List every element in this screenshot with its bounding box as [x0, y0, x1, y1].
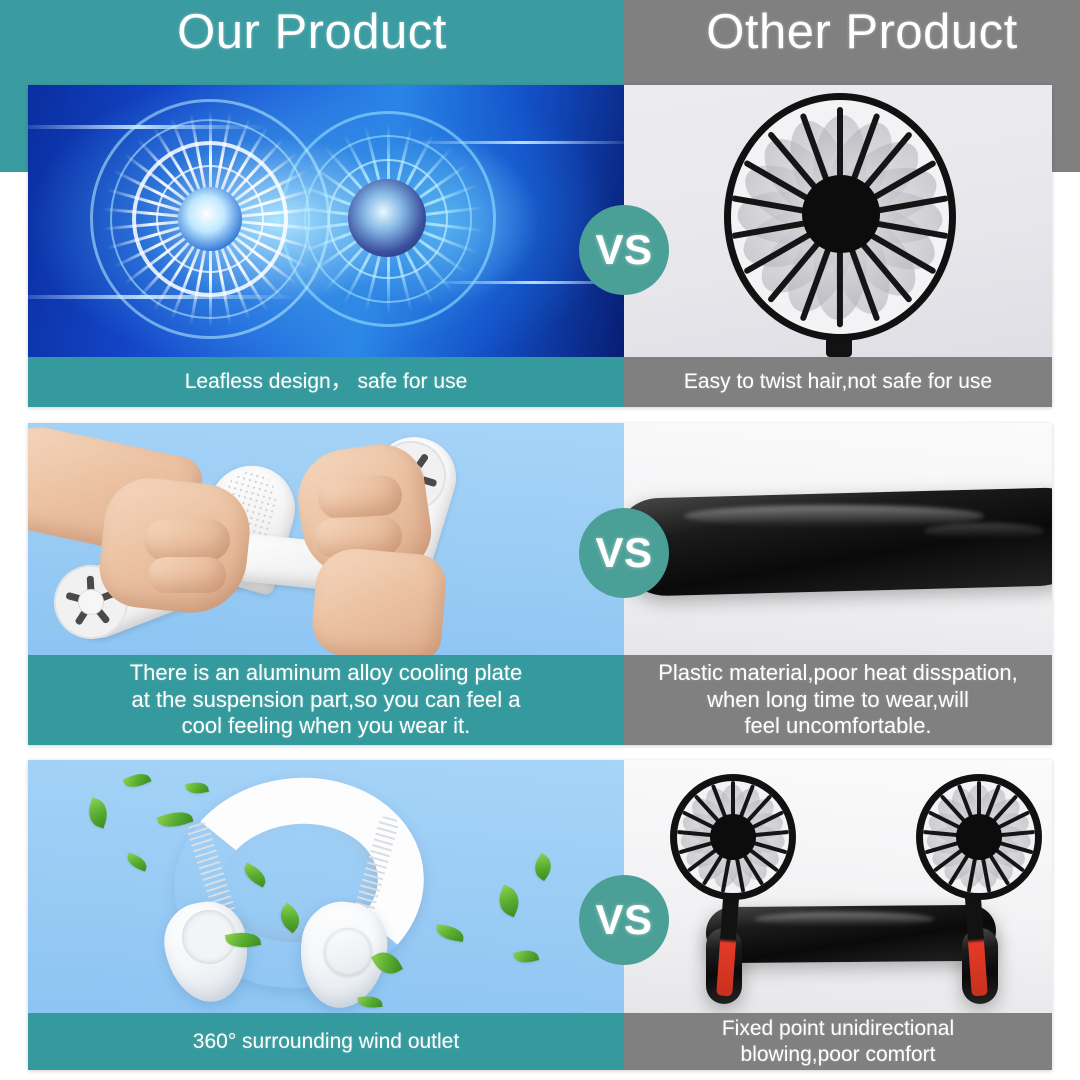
hand-right-finger — [317, 474, 404, 520]
turbine-hub — [348, 179, 426, 257]
fan-hub — [802, 175, 880, 253]
comparison-row-wind-outlet: VS 360° surrounding wind outlet Fixed po… — [28, 760, 1052, 1070]
row-media: VS — [28, 85, 1052, 357]
our-image-white-neck-fan — [28, 760, 624, 1013]
row-media: VS — [28, 423, 1052, 655]
turbine-hub — [178, 187, 242, 251]
caption-bar: Leafless design， safe for use Easy to tw… — [28, 357, 1052, 407]
other-image-bladed-fan — [624, 85, 1052, 357]
other-caption: Fixed point unidirectional blowing,poor … — [624, 1013, 1052, 1070]
caption-line: Fixed point unidirectional — [722, 1016, 954, 1042]
vs-label: VS — [595, 896, 652, 944]
band-highlight — [924, 523, 1044, 539]
band-highlight — [754, 912, 934, 926]
caption-line: 360° surrounding wind outlet — [193, 1029, 459, 1055]
vs-label: VS — [595, 226, 652, 274]
caption-line: cool feeling when you wear it. — [130, 713, 523, 740]
caption-line: There is an aluminum alloy cooling plate — [130, 660, 523, 687]
fan-hub — [956, 814, 1002, 860]
hand-left-finger — [144, 519, 230, 561]
caption-line: Easy to twist hair,not safe for use — [684, 369, 992, 395]
fan-hub — [710, 814, 756, 860]
hand-left-finger — [148, 557, 226, 593]
our-caption: There is an aluminum alloy cooling plate… — [28, 655, 624, 745]
our-image-turbine — [28, 85, 624, 357]
vs-badge: VS — [579, 875, 669, 965]
vs-label: VS — [595, 529, 652, 577]
our-caption: 360° surrounding wind outlet — [28, 1013, 624, 1070]
caption-line: when long time to wear,will — [658, 687, 1018, 714]
band-highlight — [684, 505, 984, 527]
caption-line: at the suspension part,so you can feel a — [130, 687, 523, 714]
other-image-dual-bladed-fan — [624, 760, 1052, 1013]
comparison-row-leafless: VS Leafless design， safe for use Easy to… — [28, 85, 1052, 407]
comparison-row-cooling-plate: VS There is an aluminum alloy cooling pl… — [28, 423, 1052, 745]
other-image-plastic-neckband — [624, 423, 1052, 655]
caption-bar: There is an aluminum alloy cooling plate… — [28, 655, 1052, 745]
other-caption: Plastic material,poor heat disspation, w… — [624, 655, 1052, 745]
caption-line: Plastic material,poor heat disspation, — [658, 660, 1018, 687]
caption-line: Leafless design， safe for use — [185, 369, 468, 395]
vs-badge: VS — [579, 508, 669, 598]
power-button[interactable] — [324, 928, 372, 976]
our-product-title: Our Product — [177, 6, 447, 60]
row-media: VS — [28, 760, 1052, 1013]
our-caption: Leafless design， safe for use — [28, 357, 624, 407]
caption-line: feel uncomfortable. — [658, 713, 1018, 740]
other-product-title: Other Product — [706, 6, 1018, 60]
caption-bar: 360° surrounding wind outlet Fixed point… — [28, 1013, 1052, 1070]
comparison-infographic: Our Product Other Product — [0, 0, 1080, 1080]
vs-badge: VS — [579, 205, 669, 295]
other-caption: Easy to twist hair,not safe for use — [624, 357, 1052, 407]
caption-line: blowing,poor comfort — [722, 1042, 954, 1068]
our-image-hands-bending — [28, 423, 624, 655]
black-neckband — [624, 487, 1052, 597]
hand-right-forearm — [310, 546, 449, 655]
